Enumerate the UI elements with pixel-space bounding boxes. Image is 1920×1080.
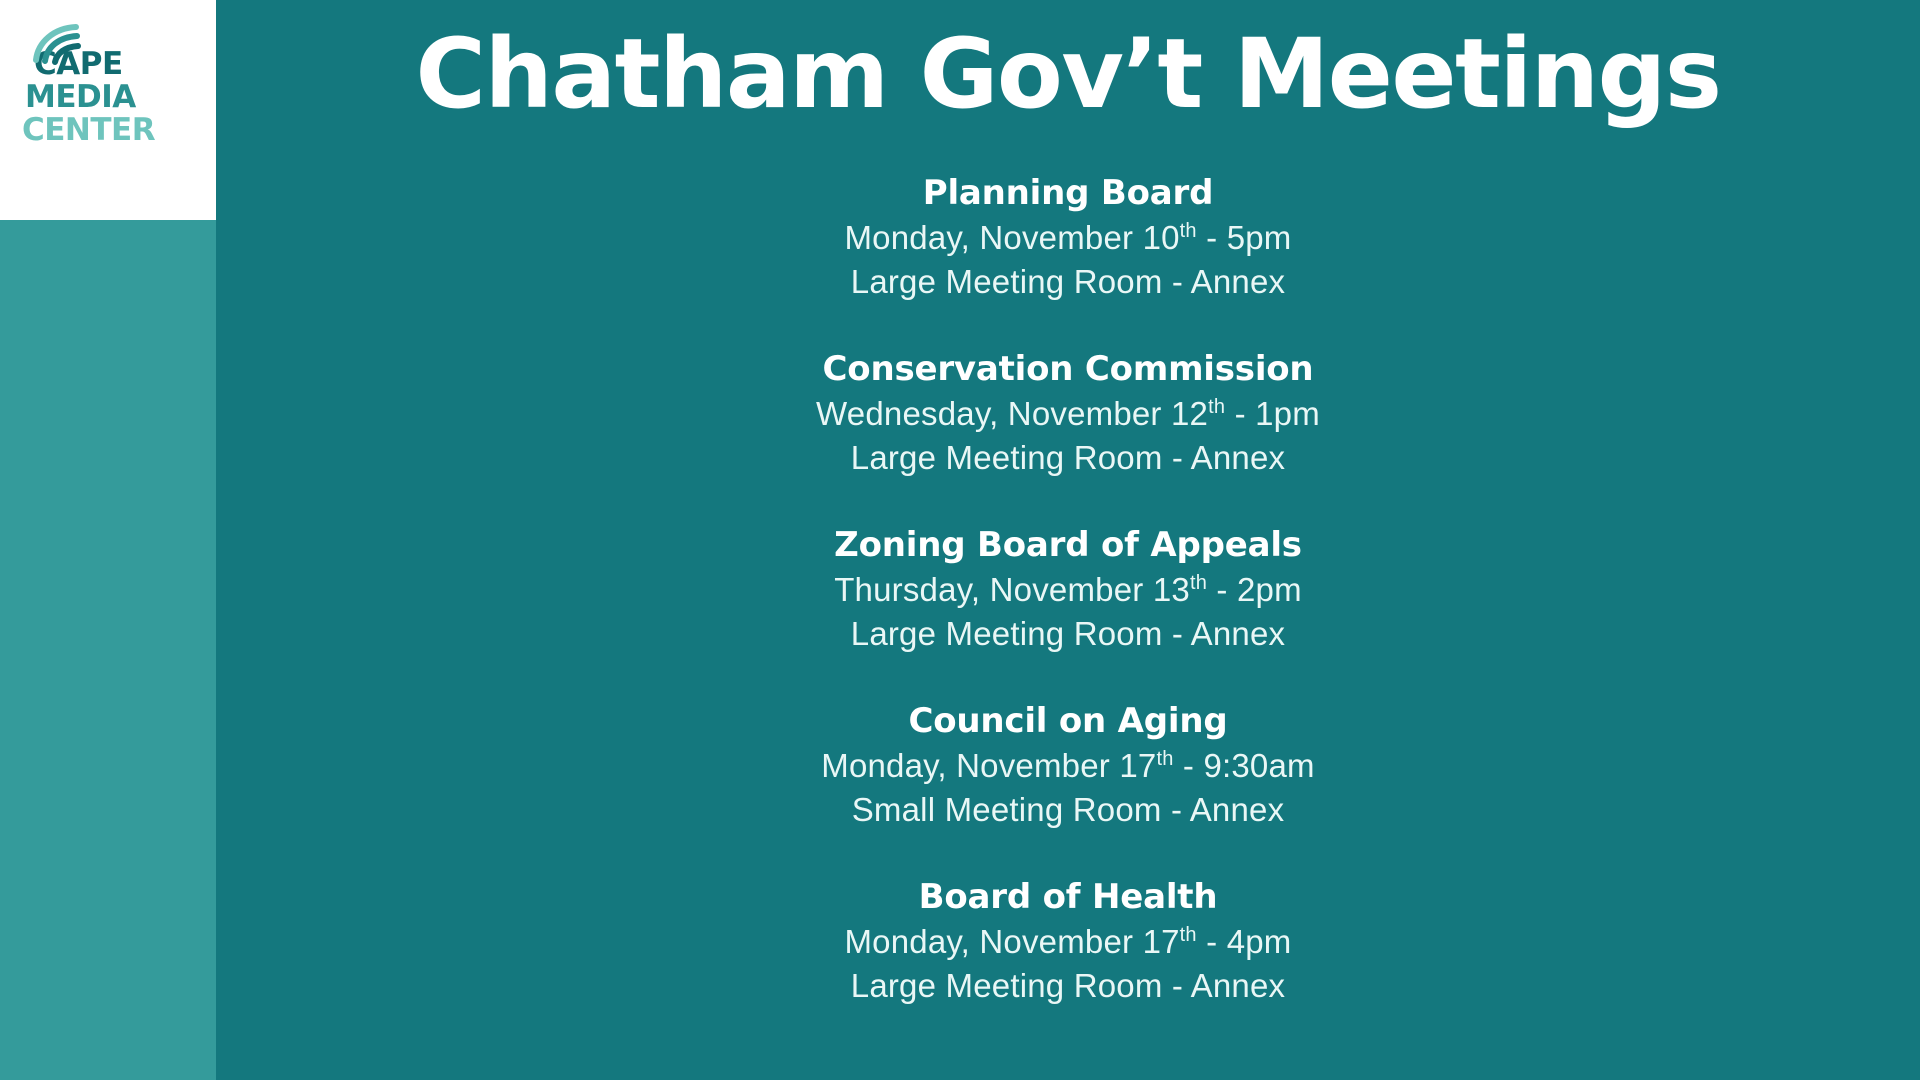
meeting-date: Monday, November 17 [821,747,1156,784]
meeting-datetime: Thursday, November 13th - 2pm [216,568,1920,612]
meeting-time: - 5pm [1197,219,1292,256]
logo-card: CAPE MEDIA CENTER [0,0,216,220]
meeting-date: Monday, November 10 [844,219,1179,256]
meeting-date: Wednesday, November 12 [816,395,1208,432]
page-title: Chatham Gov’t Meetings [216,18,1920,130]
meeting-name: Board of Health [216,874,1920,920]
meeting-location: Large Meeting Room - Annex [216,612,1920,656]
meeting-location: Large Meeting Room - Annex [216,260,1920,304]
date-ordinal-suffix: th [1180,220,1197,242]
main-content: Chatham Gov’t Meetings Planning BoardMon… [216,0,1920,1080]
meeting-time: - 2pm [1207,571,1302,608]
meeting-name: Conservation Commission [216,346,1920,392]
meeting-datetime: Monday, November 10th - 5pm [216,216,1920,260]
slide-root: CAPE MEDIA CENTER Chatham Gov’t Meetings… [0,0,1920,1080]
meeting-entry: Planning BoardMonday, November 10th - 5p… [216,170,1920,304]
meeting-list: Planning BoardMonday, November 10th - 5p… [216,170,1920,1008]
meeting-datetime: Wednesday, November 12th - 1pm [216,392,1920,436]
logo: CAPE MEDIA CENTER [22,26,194,147]
date-ordinal-suffix: th [1190,572,1207,594]
meeting-name: Zoning Board of Appeals [216,522,1920,568]
logo-text-media: MEDIA [25,81,194,114]
date-ordinal-suffix: th [1156,748,1173,770]
meeting-datetime: Monday, November 17th - 4pm [216,920,1920,964]
meeting-location: Large Meeting Room - Annex [216,436,1920,480]
meeting-location: Small Meeting Room - Annex [216,788,1920,832]
meeting-location: Large Meeting Room - Annex [216,964,1920,1008]
meeting-date: Thursday, November 13 [834,571,1190,608]
meeting-entry: Zoning Board of AppealsThursday, Novembe… [216,522,1920,656]
meeting-time: - 4pm [1197,923,1292,960]
meeting-entry: Conservation CommissionWednesday, Novemb… [216,346,1920,480]
meeting-time: - 9:30am [1174,747,1315,784]
meeting-datetime: Monday, November 17th - 9:30am [216,744,1920,788]
meeting-name: Council on Aging [216,698,1920,744]
meeting-entry: Council on AgingMonday, November 17th - … [216,698,1920,832]
date-ordinal-suffix: th [1208,396,1225,418]
date-ordinal-suffix: th [1180,924,1197,946]
meeting-time: - 1pm [1225,395,1320,432]
meeting-entry: Board of HealthMonday, November 17th - 4… [216,874,1920,1008]
meeting-date: Monday, November 17 [844,923,1179,960]
meeting-name: Planning Board [216,170,1920,216]
logo-text-center: CENTER [22,114,194,147]
wifi-arcs-icon [30,22,96,66]
